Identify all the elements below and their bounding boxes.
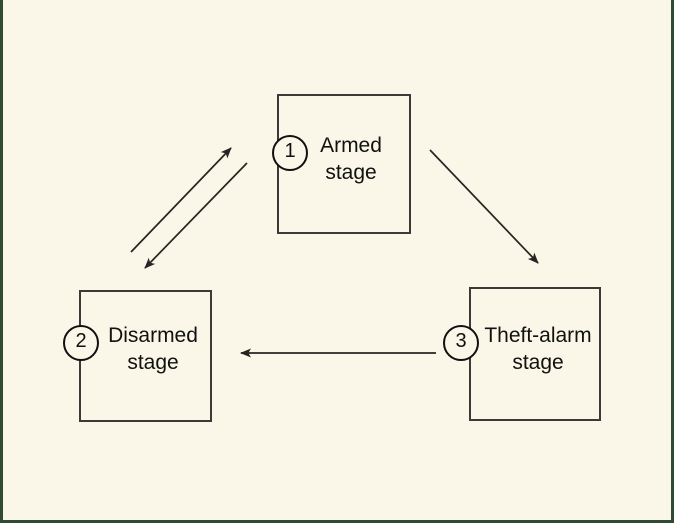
node-theft-alarm-stage-number-badge: 3 bbox=[443, 325, 479, 361]
edge-armed-to-disarmed bbox=[145, 163, 247, 268]
node-theft-alarm-stage-label: Theft-alarm stage bbox=[470, 322, 606, 376]
node-armed-stage-label: Armed stage bbox=[289, 132, 413, 186]
node-disarmed-stage-number-badge: 2 bbox=[63, 325, 99, 361]
node-armed-stage-number-badge: 1 bbox=[272, 135, 308, 171]
node-disarmed-stage-label: Disarmed stage bbox=[87, 322, 219, 376]
diagram-canvas: Armed stage 1 Disarmed stage 2 Theft-ala… bbox=[0, 0, 674, 523]
diagram-edges-layer bbox=[3, 0, 674, 523]
edge-armed-to-theft-alarm bbox=[430, 150, 538, 263]
edge-disarmed-to-armed bbox=[131, 148, 231, 252]
